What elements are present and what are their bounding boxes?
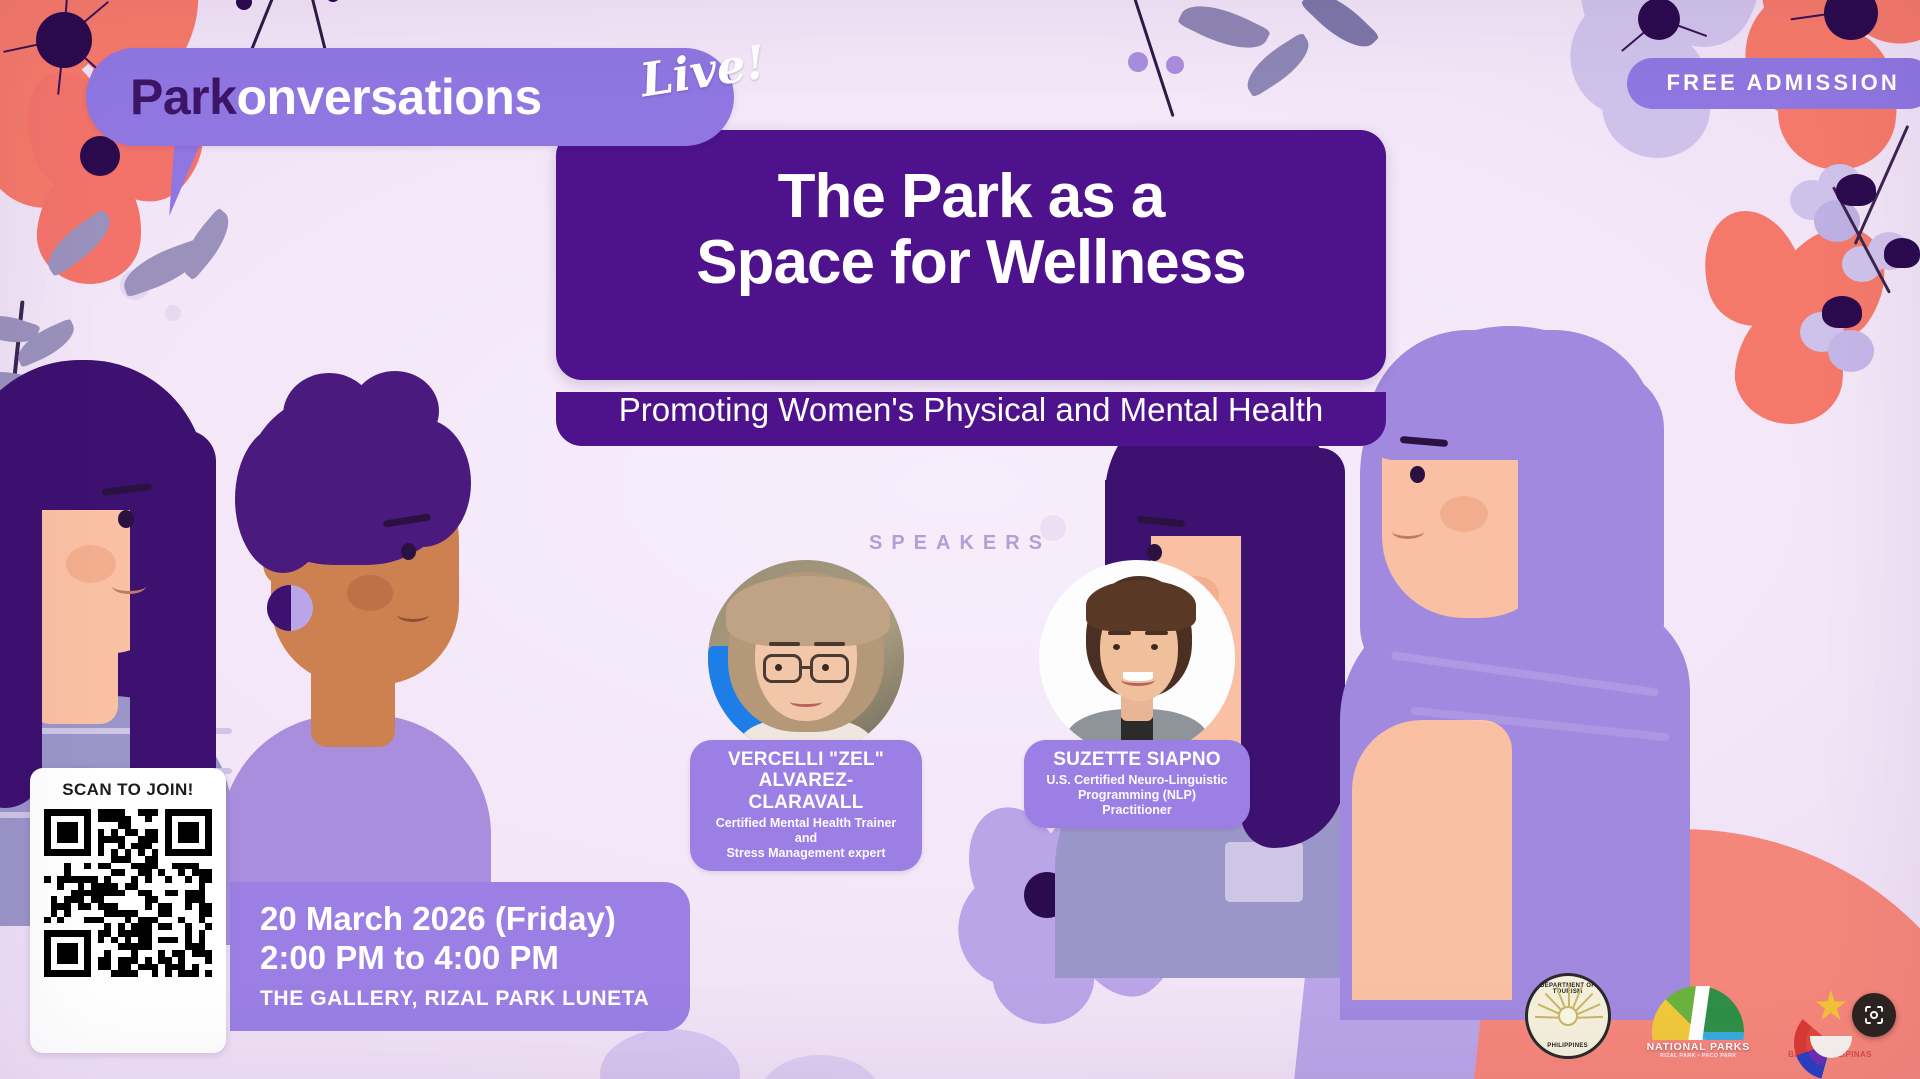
- clover-blossom: [1784, 160, 1894, 270]
- logo-dept-tourism: DEPARTMENT OF TOURISM PHILIPPINES: [1525, 973, 1611, 1059]
- photo-eye-right: [822, 664, 829, 671]
- speaker-nameplate-1: VERCELLI "ZEL" ALVAREZ-CLARAVALL Certifi…: [690, 740, 922, 871]
- speaker-role-1: Certified Mental Health Trainer and Stre…: [708, 816, 904, 861]
- bg-blob: [165, 305, 181, 321]
- brand-logo[interactable]: Parkonversations: [86, 48, 734, 146]
- scan-lens-icon: [1862, 1003, 1886, 1027]
- free-admission-badge: FREE ADMISSION: [1627, 58, 1920, 109]
- stem: [1128, 0, 1174, 117]
- speakers-heading: SPEAKERS: [0, 532, 1920, 555]
- photo-brow-right: [1145, 631, 1169, 635]
- speaker-photo-1: [708, 560, 904, 756]
- qr-card[interactable]: SCAN TO JOIN!: [30, 768, 226, 1053]
- photo-glasses-bridge: [802, 666, 810, 669]
- coral-flower-topright-2: [1690, 200, 1920, 430]
- photo-mouth: [1121, 674, 1154, 686]
- speakers-row: VERCELLI "ZEL" ALVAREZ-CLARAVALL Certifi…: [690, 560, 1250, 871]
- leaf: [1177, 0, 1271, 62]
- event-poster: Parkonversations Live! FREE ADMISSION Th…: [0, 0, 1920, 1079]
- partner-logos: DEPARTMENT OF TOURISM PHILIPPINES NATION…: [1525, 973, 1874, 1059]
- leaf: [172, 207, 240, 280]
- speaker-nameplate-2: SUZETTE SIAPNO U.S. Certified Neuro-Ling…: [1024, 740, 1250, 828]
- speech-bubble-tail: [169, 138, 232, 216]
- event-venue: THE GALLERY, RIZAL PARK LUNETA: [260, 987, 664, 1011]
- photo-brow-right: [814, 642, 845, 646]
- photo-eye-right: [1151, 644, 1158, 650]
- berry: [326, 0, 340, 2]
- logo-national-parks: NATIONAL PARKS RIZAL PARK • PACO PARK: [1647, 986, 1750, 1059]
- brand-logo-onversations: onversations: [236, 69, 541, 125]
- speaker-card-2: SUZETTE SIAPNO U.S. Certified Neuro-Ling…: [1024, 560, 1250, 828]
- speaker-name-2: SUZETTE SIAPNO: [1042, 749, 1232, 770]
- event-date: 20 March 2026 (Friday): [260, 900, 664, 939]
- photo-brow-left: [769, 642, 800, 646]
- title-line-1: The Park as a: [582, 164, 1360, 230]
- scan-lens-button[interactable]: [1852, 993, 1896, 1037]
- leaf: [117, 238, 209, 297]
- leaf: [0, 307, 40, 351]
- photo-fringe: [1086, 580, 1196, 631]
- brand-logo-live: Live!: [637, 34, 770, 107]
- title-card: The Park as a Space for Wellness: [556, 130, 1386, 380]
- title-subtitle: Promoting Women's Physical and Mental He…: [576, 392, 1366, 428]
- photo-fringe: [726, 576, 891, 647]
- tourism-seal-icon: DEPARTMENT OF TOURISM PHILIPPINES: [1525, 973, 1611, 1059]
- speaker-role-2: U.S. Certified Neuro-Linguistic Programm…: [1042, 773, 1232, 818]
- leaf: [38, 209, 119, 277]
- speaker-name-1: VERCELLI "ZEL" ALVAREZ-CLARAVALL: [708, 749, 904, 813]
- national-parks-icon: [1652, 986, 1744, 1040]
- stem: [1854, 125, 1910, 245]
- bg-blob: [600, 1029, 740, 1079]
- event-time: 2:00 PM to 4:00 PM: [260, 939, 664, 978]
- photo-eye-left: [775, 664, 782, 671]
- tourism-seal-bottom-text: PHILIPPINES: [1528, 1043, 1608, 1049]
- photo-glasses-right: [810, 654, 849, 683]
- berry: [236, 0, 252, 10]
- brand-logo-park: Park: [130, 69, 236, 125]
- bg-blob: [120, 270, 150, 300]
- berry: [1166, 56, 1184, 74]
- qr-title: SCAN TO JOIN!: [62, 780, 193, 800]
- leaf: [1238, 32, 1318, 98]
- photo-brow-left: [1108, 631, 1132, 635]
- brand-logo-text: Parkonversations: [130, 72, 542, 122]
- stem: [1832, 186, 1891, 293]
- event-details-card: 20 March 2026 (Friday) 2:00 PM to 4:00 P…: [230, 882, 690, 1031]
- qr-code[interactable]: [44, 809, 212, 977]
- leaf: [1300, 0, 1380, 59]
- bg-blob: [760, 1055, 880, 1079]
- clover-blossom: [1792, 290, 1902, 400]
- speaker-card-1: VERCELLI "ZEL" ALVAREZ-CLARAVALL Certifi…: [690, 560, 922, 871]
- title-line-2: Space for Wellness: [582, 230, 1360, 296]
- clover-blossom: [1838, 228, 1920, 328]
- berry: [1128, 52, 1148, 72]
- speaker-photo-2: [1039, 560, 1235, 756]
- national-parks-sublabel: RIZAL PARK • PACO PARK: [1660, 1053, 1737, 1059]
- illustration-woman-left-2: [225, 385, 485, 925]
- title-subtitle-wrap: Promoting Women's Physical and Mental He…: [556, 392, 1386, 446]
- photo-glasses-left: [763, 654, 802, 683]
- sun-icon: [1558, 1006, 1578, 1026]
- national-parks-label: NATIONAL PARKS: [1647, 1041, 1750, 1053]
